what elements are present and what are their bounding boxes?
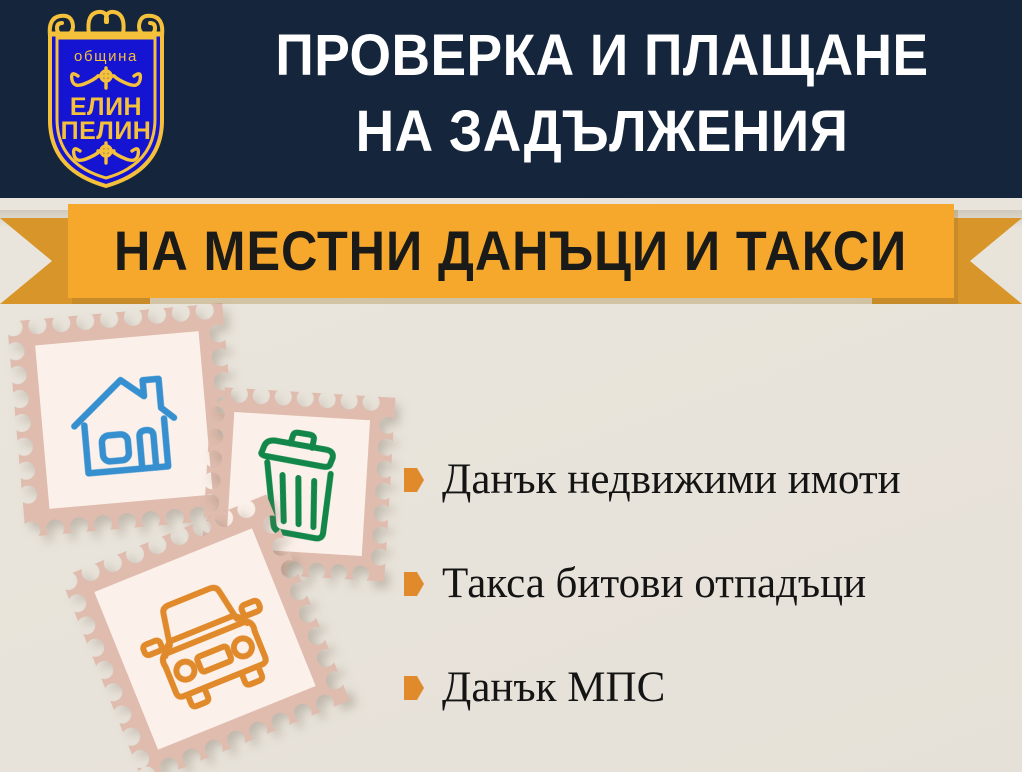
logo-word-top: община	[74, 48, 138, 65]
bullet-arrow-icon	[404, 676, 424, 700]
page-title-line-2: НА ЗАДЪЛЖЕНИЯ	[228, 94, 975, 170]
tax-type-list: Данък недвижими имоти Такса битови отпад…	[404, 428, 1014, 740]
bullet-arrow-icon	[404, 572, 424, 596]
svg-text:ПЕЛИН: ПЕЛИН	[61, 117, 152, 145]
list-item[interactable]: Данък МПС	[404, 636, 1014, 740]
subtitle-ribbon: НА МЕСТНИ ДАНЪЦИ И ТАКСИ	[0, 196, 1022, 308]
list-item-label: Такса битови отпадъци	[442, 560, 866, 608]
coat-of-arms-icon: община ЕЛИН ПЕЛИН	[28, 8, 184, 192]
poster-canvas: община ЕЛИН ПЕЛИН ПРОВЕРКА И ПЛАЩАНЕ НА …	[0, 0, 1022, 772]
list-item-label: Данък МПС	[442, 664, 665, 712]
list-item[interactable]: Данък недвижими имоти	[404, 428, 1014, 532]
ribbon-banner: НА МЕСТНИ ДАНЪЦИ И ТАКСИ	[68, 204, 954, 298]
list-item[interactable]: Такса битови отпадъци	[404, 532, 1014, 636]
header-title-block: ПРОВЕРКА И ПЛАЩАНЕ НА ЗАДЪЛЖЕНИЯ	[196, 18, 1008, 170]
list-item-label: Данък недвижими имоти	[442, 456, 901, 504]
page-title-line-1: ПРОВЕРКА И ПЛАЩАНЕ	[228, 18, 975, 94]
ribbon-label: НА МЕСТНИ ДАНЪЦИ И ТАКСИ	[114, 221, 907, 281]
bullet-arrow-icon	[404, 468, 424, 492]
municipality-logo: община ЕЛИН ПЕЛИН	[28, 8, 184, 192]
